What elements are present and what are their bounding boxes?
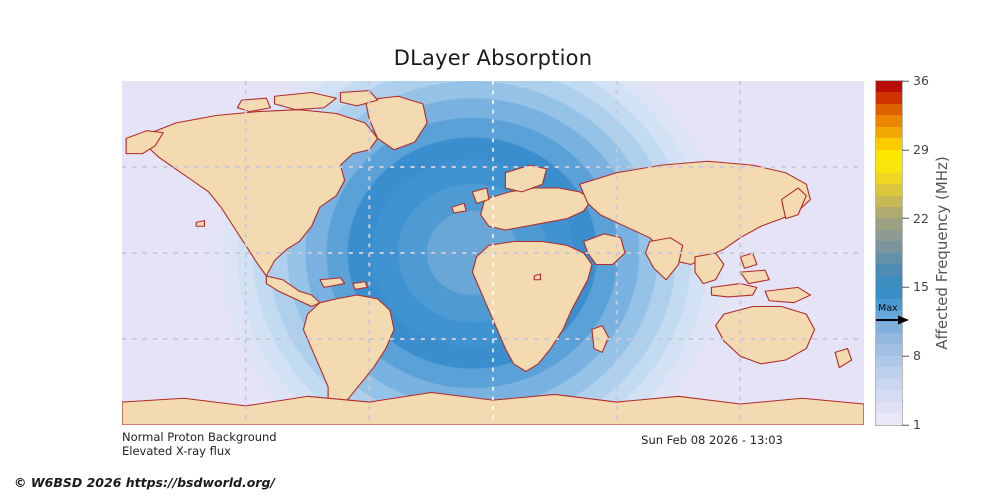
- tick-label: 22: [913, 212, 929, 225]
- colorbar-band: [876, 104, 902, 115]
- colorbar-band: [876, 367, 902, 378]
- tick-mark: [902, 81, 909, 82]
- colorbar-band: [876, 253, 902, 264]
- colorbar-axis-label: Affected Frequency (MHz): [932, 81, 952, 425]
- colorbar-band: [876, 115, 902, 126]
- copyright-footer: © W6BSD 2026 https://bsdworld.org/: [14, 475, 275, 490]
- note-proton-background: Normal Proton Background: [122, 430, 277, 444]
- tick-label: 8: [913, 350, 921, 363]
- colorbar-band: [876, 287, 902, 298]
- tick-label: 15: [913, 281, 929, 294]
- colorbar-band: [876, 138, 902, 149]
- colorbar-tick: 29: [902, 144, 929, 157]
- colorbar-band: [876, 344, 902, 355]
- colorbar-band: [876, 241, 902, 252]
- colorbar-band: [876, 390, 902, 401]
- map-canvas: [122, 81, 864, 425]
- colorbar-band: [876, 218, 902, 229]
- colorbar-band: [876, 356, 902, 367]
- colorbar-tick: 22: [902, 212, 929, 225]
- colorbar-band: [876, 276, 902, 287]
- colorbar-band: [876, 173, 902, 184]
- colorbar-band: [876, 150, 902, 161]
- tick-mark: [902, 356, 909, 357]
- colorbar-band: [876, 264, 902, 275]
- colorbar-tick: 36: [902, 75, 929, 88]
- note-xray-flux: Elevated X-ray flux: [122, 444, 231, 458]
- colorbar-band: [876, 184, 902, 195]
- colorbar-band: [876, 230, 902, 241]
- colorbar-band: [876, 127, 902, 138]
- colorbar-tick: 1: [902, 419, 921, 432]
- colorbar[interactable]: [876, 81, 902, 425]
- colorbar-band: [876, 333, 902, 344]
- tick-mark: [902, 149, 909, 150]
- tick-mark: [902, 425, 909, 426]
- tick-mark: [902, 287, 909, 288]
- colorbar-band: [876, 379, 902, 390]
- colorbar-band: [876, 161, 902, 172]
- world-map[interactable]: [122, 81, 864, 425]
- colorbar-tick: 15: [902, 281, 929, 294]
- colorbar-band: [876, 413, 902, 424]
- page-title: DLayer Absorption: [0, 46, 986, 70]
- colorbar-tick: 8: [902, 350, 921, 363]
- colorbar-band: [876, 207, 902, 218]
- colorbar-band: [876, 81, 902, 92]
- tick-label: 36: [913, 75, 929, 88]
- tick-mark: [902, 218, 909, 219]
- timestamp: Sun Feb 08 2026 - 13:03: [560, 433, 864, 447]
- plot-page: DLayer Absorption: [0, 0, 1000, 500]
- colorbar-band: [876, 299, 902, 310]
- colorbar-band: [876, 322, 902, 333]
- tick-label: 29: [913, 144, 929, 157]
- colorbar-band: [876, 310, 902, 321]
- colorbar-band: [876, 402, 902, 413]
- colorbar-band: [876, 92, 902, 103]
- tick-label: 1: [913, 419, 921, 432]
- colorbar-band: [876, 196, 902, 207]
